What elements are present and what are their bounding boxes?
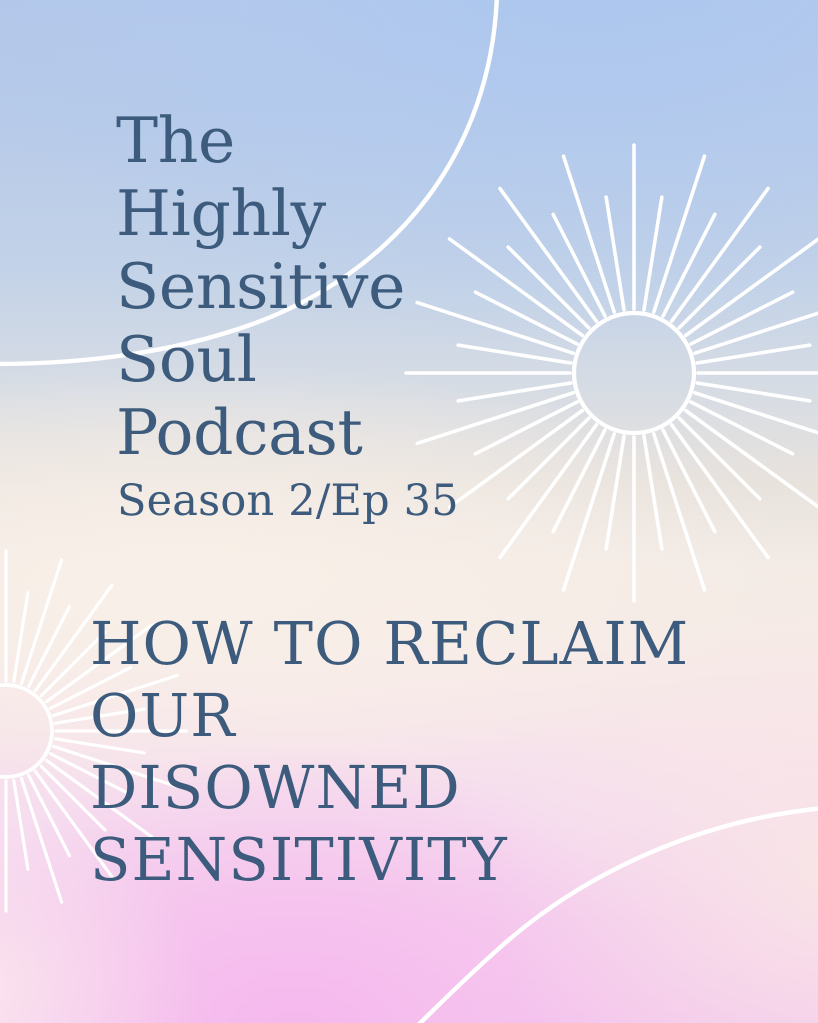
- season-episode-label: Season 2/Ep 35: [117, 476, 459, 526]
- podcast-cover-canvas: The Highly Sensitive Soul Podcast Season…: [0, 0, 818, 1023]
- episode-headline: HOW TO RECLAIM OUR DISOWNED SENSITIVITY: [90, 608, 750, 896]
- page-title: The Highly Sensitive Soul Podcast: [116, 104, 405, 469]
- cover-text-block: The Highly Sensitive Soul Podcast Season…: [0, 0, 818, 1023]
